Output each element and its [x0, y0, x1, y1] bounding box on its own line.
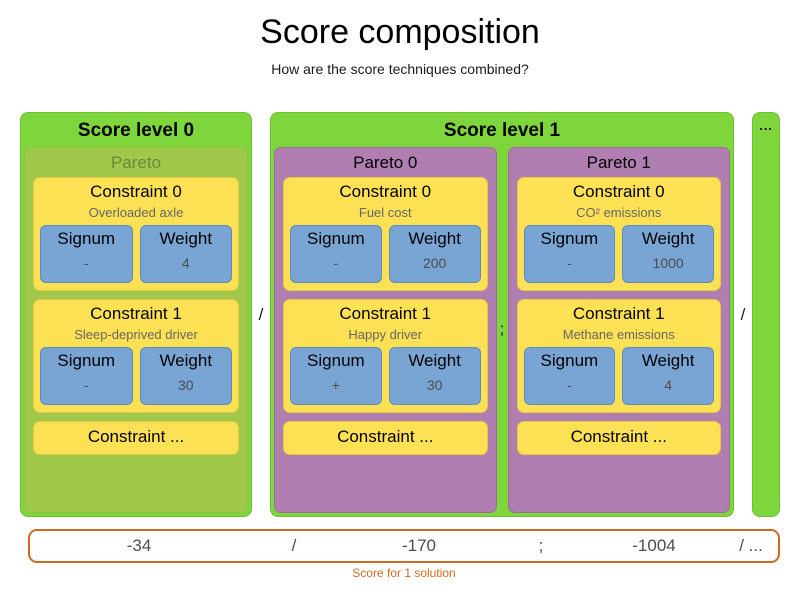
signum-box[interactable]: Signum - — [524, 347, 616, 405]
weight-box[interactable]: Weight 30 — [140, 347, 233, 405]
constraint-box[interactable]: Constraint 0 Fuel cost Signum - Weight 2… — [283, 177, 488, 291]
constraint-more-box[interactable]: Constraint ... — [33, 421, 239, 455]
score-value-pareto-1: -1004 — [584, 536, 724, 556]
constraint-description: Methane emissions — [524, 325, 715, 347]
score-level-0-title: Score level 0 — [24, 116, 248, 147]
score-value-level-0: -34 — [30, 536, 248, 556]
signum-label: Signum — [293, 227, 379, 250]
constraint-more-label: Constraint ... — [290, 426, 481, 448]
score-summary: -34 / -170 ; -1004 / ... Score for 1 sol… — [28, 529, 780, 580]
signum-label: Signum — [43, 227, 130, 250]
weight-box[interactable]: Weight 4 — [622, 347, 714, 405]
score-level-more-box[interactable]: ... — [752, 112, 780, 517]
weight-label: Weight — [143, 227, 230, 250]
weight-value: 200 — [392, 250, 478, 277]
weight-box[interactable]: Weight 200 — [389, 225, 481, 283]
constraint-description: Happy driver — [290, 325, 481, 347]
signum-box[interactable]: Signum - — [40, 225, 133, 283]
weight-label: Weight — [625, 227, 711, 250]
score-level-0-box[interactable]: Score level 0 Pareto Constraint 0 Overlo… — [20, 112, 252, 517]
separator-pareto-0-1: ; — [497, 147, 508, 513]
constraint-more-box[interactable]: Constraint ... — [283, 421, 488, 455]
signum-box[interactable]: Signum - — [40, 347, 133, 405]
signum-box[interactable]: Signum - — [290, 225, 382, 283]
signum-label: Signum — [527, 349, 613, 372]
score-level-more-label: ... — [755, 116, 777, 132]
constraint-box[interactable]: Constraint 1 Methane emissions Signum - … — [517, 299, 722, 413]
constraint-box[interactable]: Constraint 0 Overloaded axle Signum - We… — [33, 177, 239, 291]
weight-label: Weight — [625, 349, 711, 372]
pareto-1-title: Pareto 1 — [517, 152, 722, 177]
signum-value: - — [43, 250, 130, 277]
weight-label: Weight — [392, 349, 478, 372]
page-header: Score composition How are the score tech… — [0, 0, 800, 77]
constraint-attributes: Signum - Weight 4 — [524, 347, 715, 405]
constraint-name: Constraint 1 — [524, 303, 715, 325]
score-level-1-title: Score level 1 — [274, 116, 730, 147]
pareto-group-ghost[interactable]: Pareto Constraint 0 Overloaded axle Sign… — [24, 147, 248, 513]
weight-value: 4 — [625, 372, 711, 399]
constraint-attributes: Signum - Weight 1000 — [524, 225, 715, 283]
constraint-box[interactable]: Constraint 1 Happy driver Signum + Weigh… — [283, 299, 488, 413]
constraint-name: Constraint 0 — [290, 181, 481, 203]
weight-box[interactable]: Weight 1000 — [622, 225, 714, 283]
pareto-group-0[interactable]: Pareto 0 Constraint 0 Fuel cost Signum -… — [274, 147, 497, 513]
signum-value: - — [527, 250, 613, 277]
constraint-box[interactable]: Constraint 0 CO² emissions Signum - Weig… — [517, 177, 722, 291]
score-caption: Score for 1 solution — [28, 563, 780, 580]
signum-value: - — [43, 372, 130, 399]
constraint-attributes: Signum - Weight 4 — [40, 225, 232, 283]
pareto-0-title: Pareto 0 — [283, 152, 488, 177]
constraint-more-label: Constraint ... — [40, 426, 232, 448]
constraint-description: CO² emissions — [524, 203, 715, 225]
weight-value: 30 — [392, 372, 478, 399]
score-level-0-body: Pareto Constraint 0 Overloaded axle Sign… — [24, 147, 248, 513]
weight-box[interactable]: Weight 30 — [389, 347, 481, 405]
pareto-ghost-title: Pareto — [33, 152, 239, 177]
weight-label: Weight — [392, 227, 478, 250]
signum-label: Signum — [43, 349, 130, 372]
constraint-box[interactable]: Constraint 1 Sleep-deprived driver Signu… — [33, 299, 239, 413]
score-value-pareto-0: -170 — [340, 536, 498, 556]
weight-value: 4 — [143, 250, 230, 277]
page-subtitle: How are the score techniques combined? — [0, 61, 800, 77]
constraint-name: Constraint 0 — [524, 181, 715, 203]
signum-label: Signum — [527, 227, 613, 250]
score-separator-2: / ... — [724, 536, 778, 556]
constraint-attributes: Signum - Weight 200 — [290, 225, 481, 283]
constraint-more-label: Constraint ... — [524, 426, 715, 448]
score-level-1-body: Pareto 0 Constraint 0 Fuel cost Signum -… — [274, 147, 730, 513]
constraint-name: Constraint 1 — [40, 303, 232, 325]
constraint-name: Constraint 1 — [290, 303, 481, 325]
constraint-list: Constraint 0 CO² emissions Signum - Weig… — [517, 177, 722, 504]
score-level-1-box[interactable]: Score level 1 Pareto 0 Constraint 0 Fuel… — [270, 112, 734, 517]
pareto-group-1[interactable]: Pareto 1 Constraint 0 CO² emissions Sign… — [508, 147, 731, 513]
constraint-attributes: Signum + Weight 30 — [290, 347, 481, 405]
signum-box[interactable]: Signum - — [524, 225, 616, 283]
signum-label: Signum — [293, 349, 379, 372]
signum-value: + — [293, 372, 379, 399]
score-separator-0: / — [248, 536, 340, 556]
constraint-description: Fuel cost — [290, 203, 481, 225]
score-composition-diagram: Score level 0 Pareto Constraint 0 Overlo… — [0, 112, 800, 517]
weight-value: 30 — [143, 372, 230, 399]
constraint-attributes: Signum - Weight 30 — [40, 347, 232, 405]
constraint-list: Constraint 0 Overloaded axle Signum - We… — [33, 177, 239, 504]
separator-level-0-1: / — [252, 112, 270, 517]
score-bar[interactable]: -34 / -170 ; -1004 / ... — [28, 529, 780, 563]
constraint-more-box[interactable]: Constraint ... — [517, 421, 722, 455]
weight-box[interactable]: Weight 4 — [140, 225, 233, 283]
signum-value: - — [527, 372, 613, 399]
score-separator-1: ; — [498, 536, 584, 556]
constraint-name: Constraint 0 — [40, 181, 232, 203]
constraint-description: Sleep-deprived driver — [40, 325, 232, 347]
weight-label: Weight — [143, 349, 230, 372]
signum-box[interactable]: Signum + — [290, 347, 382, 405]
weight-value: 1000 — [625, 250, 711, 277]
constraint-list: Constraint 0 Fuel cost Signum - Weight 2… — [283, 177, 488, 504]
signum-value: - — [293, 250, 379, 277]
separator-level-1-more: / — [734, 112, 752, 517]
constraint-description: Overloaded axle — [40, 203, 232, 225]
page-title: Score composition — [0, 14, 800, 51]
